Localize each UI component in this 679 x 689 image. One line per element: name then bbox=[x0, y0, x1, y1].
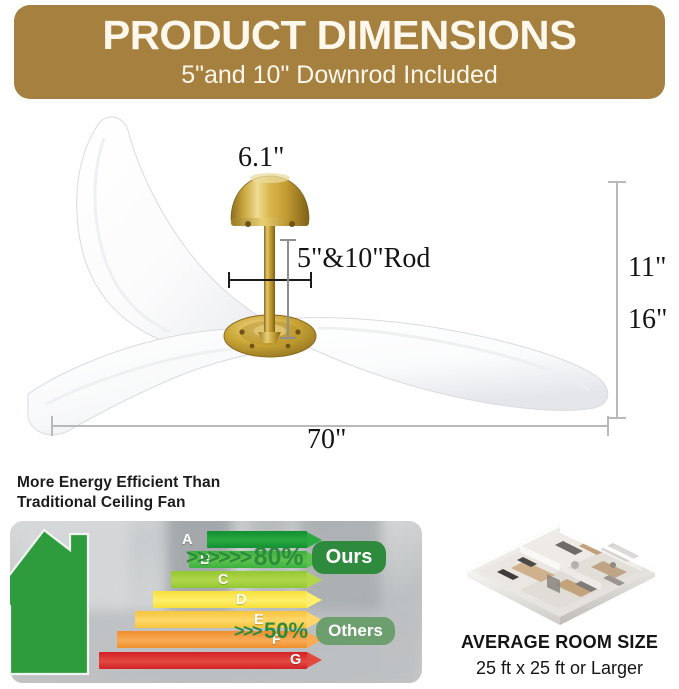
efficiency-caption-line-1: More Energy Efficient Than bbox=[17, 473, 220, 493]
fan-blade-right bbox=[296, 318, 608, 411]
banner-subtitle: 5"and 10" Downrod Included bbox=[181, 60, 498, 90]
chevrons-others-icon: >>> bbox=[234, 621, 261, 642]
efficiency-caption: More Energy Efficient Than Traditional C… bbox=[17, 473, 220, 513]
bar-arrow-icon bbox=[307, 592, 322, 608]
fan-dimension-diagram bbox=[0, 100, 679, 470]
bar-letter: C bbox=[218, 572, 228, 588]
chevrons-ours-icon: >>>>>> bbox=[186, 546, 251, 570]
product-dimensions-banner: PRODUCT DIMENSIONS 5"and 10" Downrod Inc… bbox=[14, 5, 665, 99]
height-option-1-label: 11" bbox=[628, 252, 666, 284]
bar-arrow-icon bbox=[307, 652, 322, 668]
bar-letter: G bbox=[290, 652, 301, 668]
bar-arrow-icon bbox=[307, 572, 322, 588]
room-size-subtitle: 25 ft x 25 ft or Larger bbox=[440, 658, 679, 679]
percent-others: 50% bbox=[264, 618, 308, 644]
efficiency-stat-others: >>> 50% Others bbox=[234, 617, 395, 645]
banner-title: PRODUCT DIMENSIONS bbox=[102, 14, 576, 57]
badge-others: Others bbox=[316, 617, 395, 645]
average-room-size-block: AVERAGE ROOM SIZE 25 ft x 25 ft or Large… bbox=[440, 521, 679, 689]
dimension-line-height bbox=[608, 182, 626, 418]
efficiency-stat-ours: >>>>>> 80% Ours bbox=[186, 541, 386, 574]
floor-plan-image bbox=[463, 521, 658, 629]
bar-letter: D bbox=[236, 592, 246, 608]
blade-span-label: 70" bbox=[307, 424, 346, 456]
downrod-length-label: 5"&10"Rod bbox=[297, 243, 430, 275]
house-icon bbox=[10, 528, 90, 676]
energy-bar-g: G bbox=[99, 652, 322, 669]
room-size-title: AVERAGE ROOM SIZE bbox=[440, 632, 679, 653]
percent-ours: 80% bbox=[254, 543, 304, 572]
bar-body bbox=[153, 591, 307, 608]
badge-ours: Ours bbox=[312, 541, 387, 574]
canopy-width-label: 6.1" bbox=[238, 142, 284, 174]
bar-body bbox=[99, 652, 307, 669]
height-option-2-label: 16" bbox=[628, 304, 667, 336]
energy-bar-d: D bbox=[99, 591, 322, 608]
efficiency-caption-line-2: Traditional Ceiling Fan bbox=[17, 493, 220, 513]
